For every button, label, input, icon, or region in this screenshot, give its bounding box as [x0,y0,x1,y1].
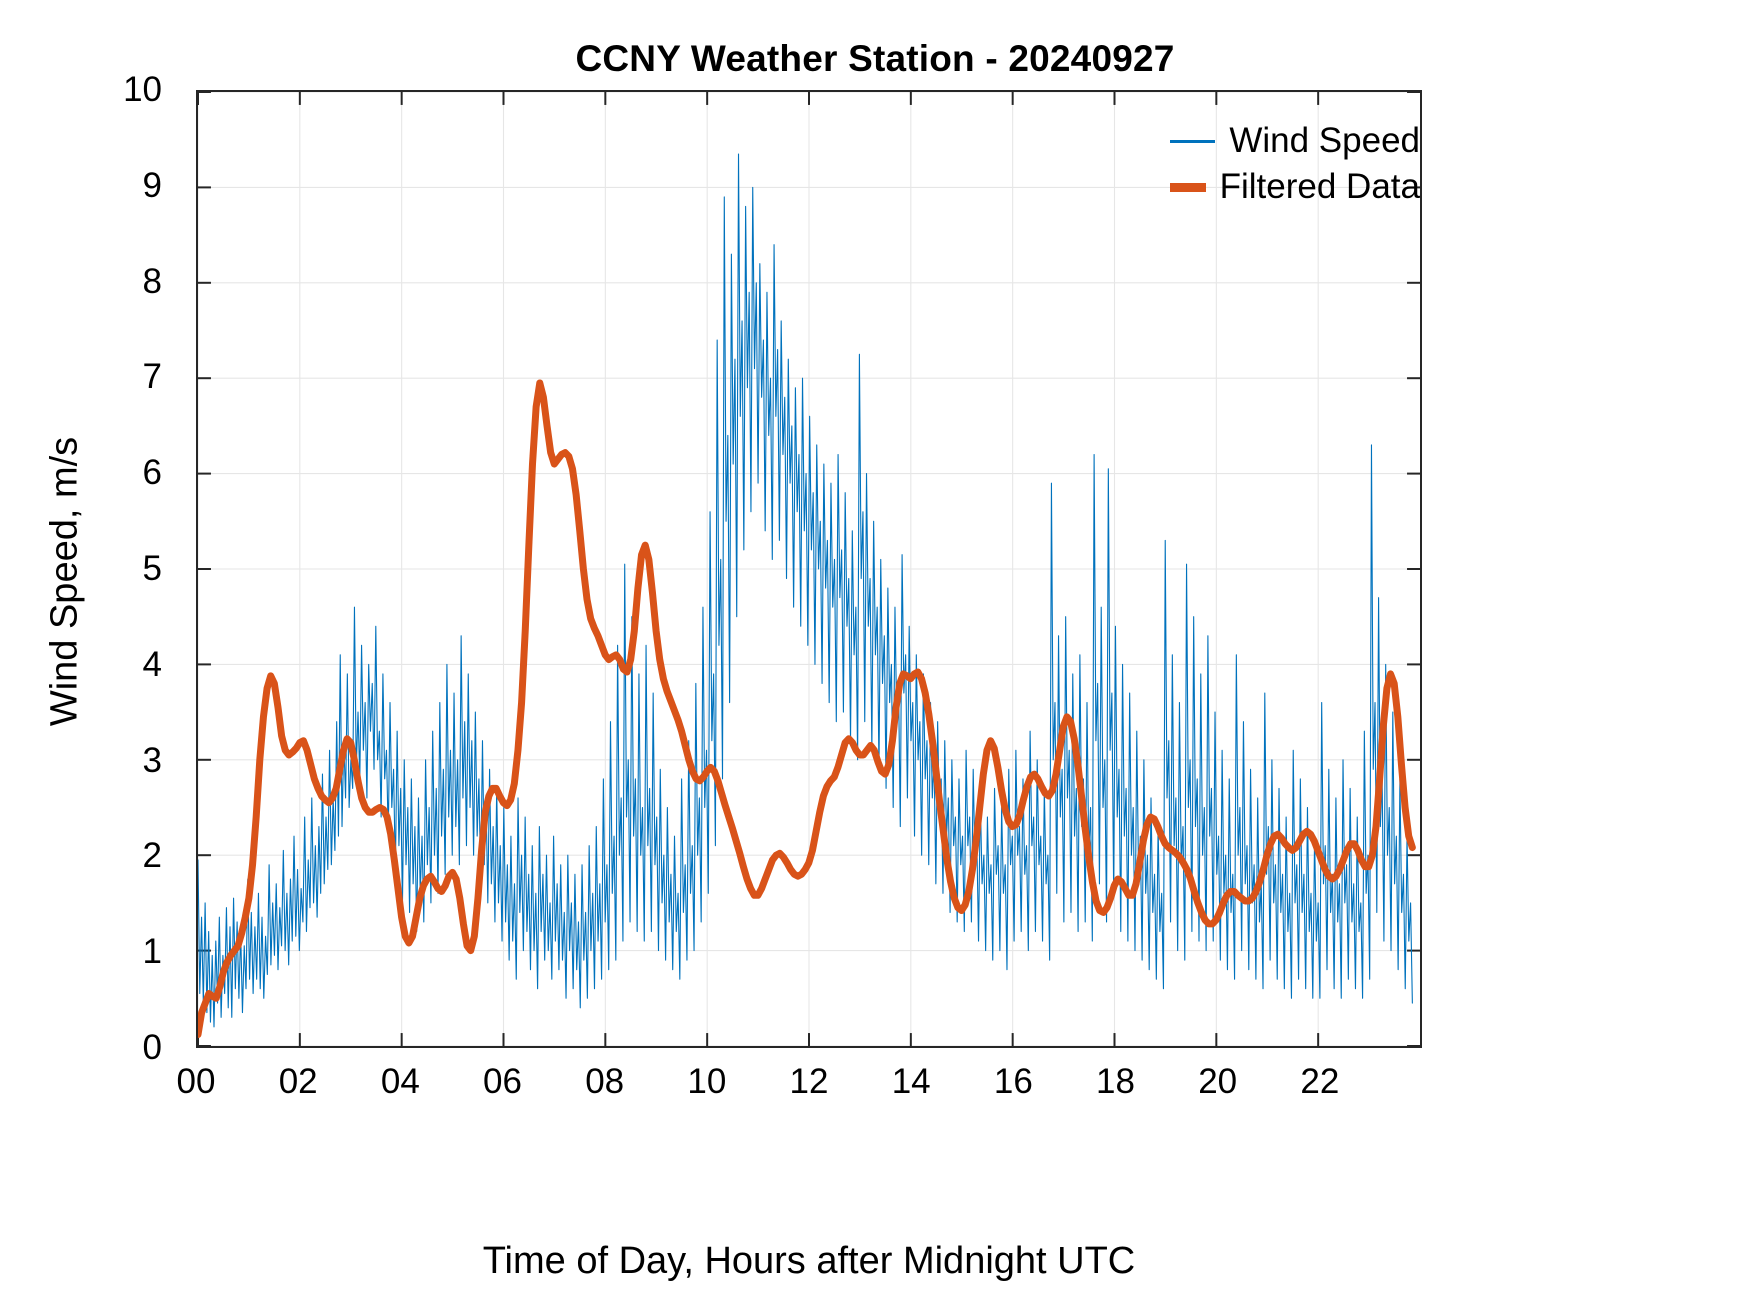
data-series-layer [198,92,1420,1046]
x-tick-label: 06 [483,1062,522,1102]
x-tick-label: 16 [994,1062,1033,1102]
legend-item-filtered-data: Filtered Data [1170,164,1420,210]
x-axis-title: Time of Day, Hours after Midnight UTC [196,1240,1422,1283]
legend: Wind Speed Filtered Data [1170,118,1420,210]
legend-item-wind-speed: Wind Speed [1170,118,1420,164]
y-tick-label: 1 [143,932,162,972]
x-tick-label: 20 [1198,1062,1237,1102]
y-tick-label: 3 [143,741,162,781]
y-tick-label: 9 [143,166,162,206]
x-tick-label: 18 [1096,1062,1135,1102]
y-tick-label: 4 [143,645,162,685]
plot-area [196,90,1422,1048]
x-tick-label: 02 [279,1062,318,1102]
y-tick-label: 8 [143,262,162,302]
y-axis-tick-labels: 012345678910 [0,90,178,1048]
x-tick-label: 04 [381,1062,420,1102]
x-tick-label: 22 [1300,1062,1339,1102]
y-tick-label: 0 [143,1028,162,1068]
y-tick-label: 6 [143,453,162,493]
x-tick-label: 12 [790,1062,829,1102]
x-axis-tick-labels: 000204060810121416182022 [196,1062,1422,1122]
x-tick-label: 08 [585,1062,624,1102]
legend-label-filtered-data: Filtered Data [1220,167,1420,207]
x-tick-label: 00 [177,1062,216,1102]
y-tick-label: 5 [143,549,162,589]
legend-swatch-filtered-data [1170,183,1206,192]
legend-swatch-wind-speed [1170,140,1215,143]
y-tick-label: 2 [143,836,162,876]
y-tick-label: 7 [143,357,162,397]
y-tick-label: 10 [123,70,162,110]
legend-label-wind-speed: Wind Speed [1229,121,1420,161]
x-tick-label: 10 [687,1062,726,1102]
chart-title: CCNY Weather Station - 20240927 [0,38,1750,80]
x-tick-label: 14 [892,1062,931,1102]
y-axis-title: Wind Speed, m/s [44,102,87,1062]
figure-canvas: CCNY Weather Station - 20240927 01234567… [0,0,1750,1313]
